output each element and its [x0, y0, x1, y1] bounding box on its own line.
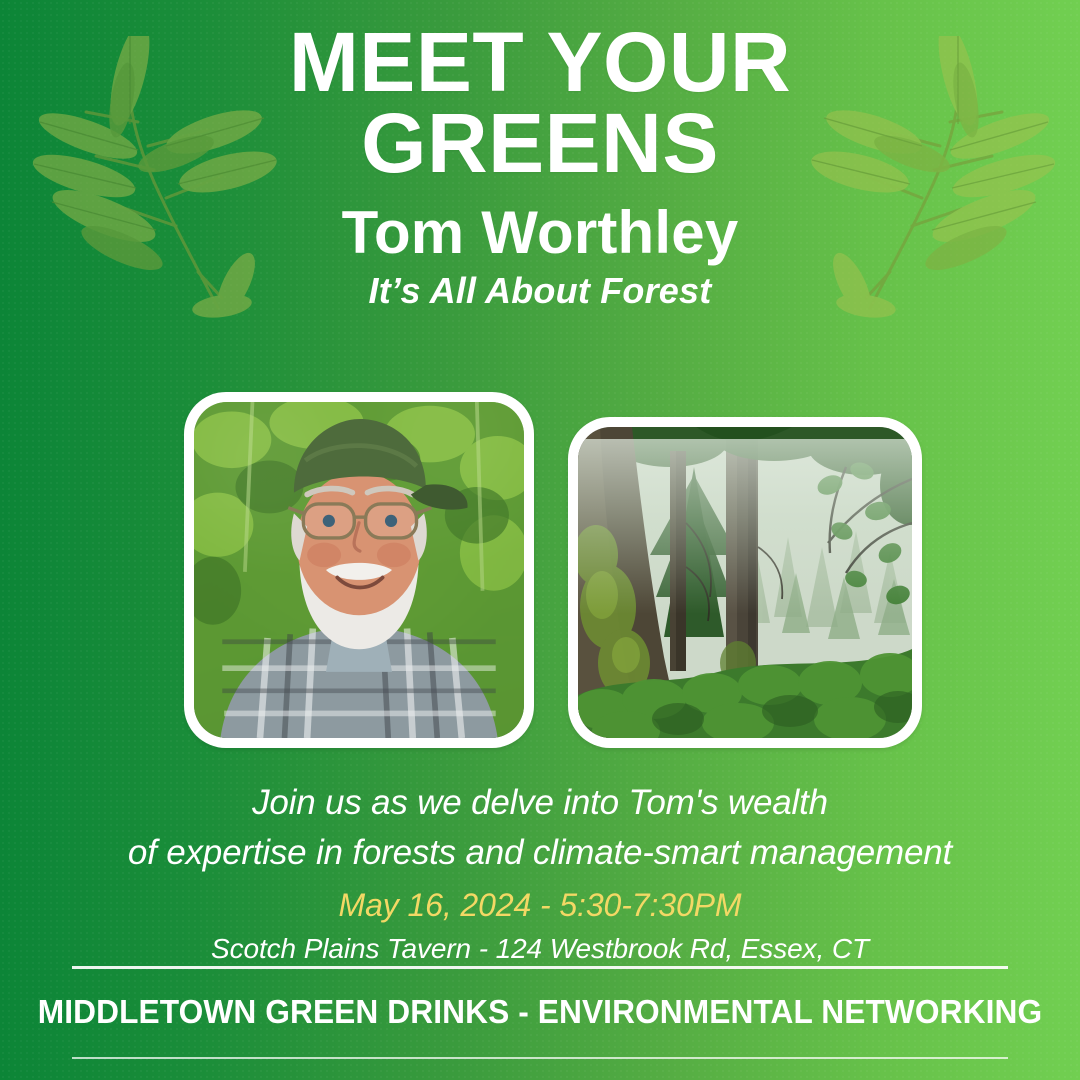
forest-photo-image: [578, 427, 912, 738]
forest-photo: [568, 417, 922, 748]
headline-line-1: MEET YOUR: [0, 22, 1080, 103]
body-copy: Join us as we delve into Tom's wealth of…: [0, 778, 1080, 965]
speaker-portrait: [184, 392, 534, 748]
forest-scene: [578, 427, 912, 738]
headline-line-2: GREENS: [0, 103, 1080, 184]
event-venue: Scotch Plains Tavern - 124 Westbrook Rd,…: [0, 933, 1080, 965]
talk-title: It’s All About Forest: [0, 270, 1080, 312]
portrait-scene: [194, 402, 524, 738]
event-datetime: May 16, 2024 - 5:30-7:30PM: [0, 887, 1080, 924]
footer: MIDDLETOWN GREEN DRINKS - ENVIRONMENTAL …: [0, 966, 1080, 1059]
blurb-line-1: Join us as we delve into Tom's wealth: [0, 778, 1080, 828]
title-block: MEET YOUR GREENS Tom Worthley It’s All A…: [0, 22, 1080, 312]
organization-name: MIDDLETOWN GREEN DRINKS - ENVIRONMENTAL …: [22, 969, 1059, 1057]
event-poster: MEET YOUR GREENS Tom Worthley It’s All A…: [0, 0, 1080, 1080]
speaker-name: Tom Worthley: [0, 201, 1080, 264]
divider-bottom: [72, 1057, 1008, 1059]
page-title: MEET YOUR GREENS: [0, 22, 1080, 185]
speaker-portrait-image: [194, 402, 524, 738]
blurb-line-2: of expertise in forests and climate-smar…: [0, 828, 1080, 878]
